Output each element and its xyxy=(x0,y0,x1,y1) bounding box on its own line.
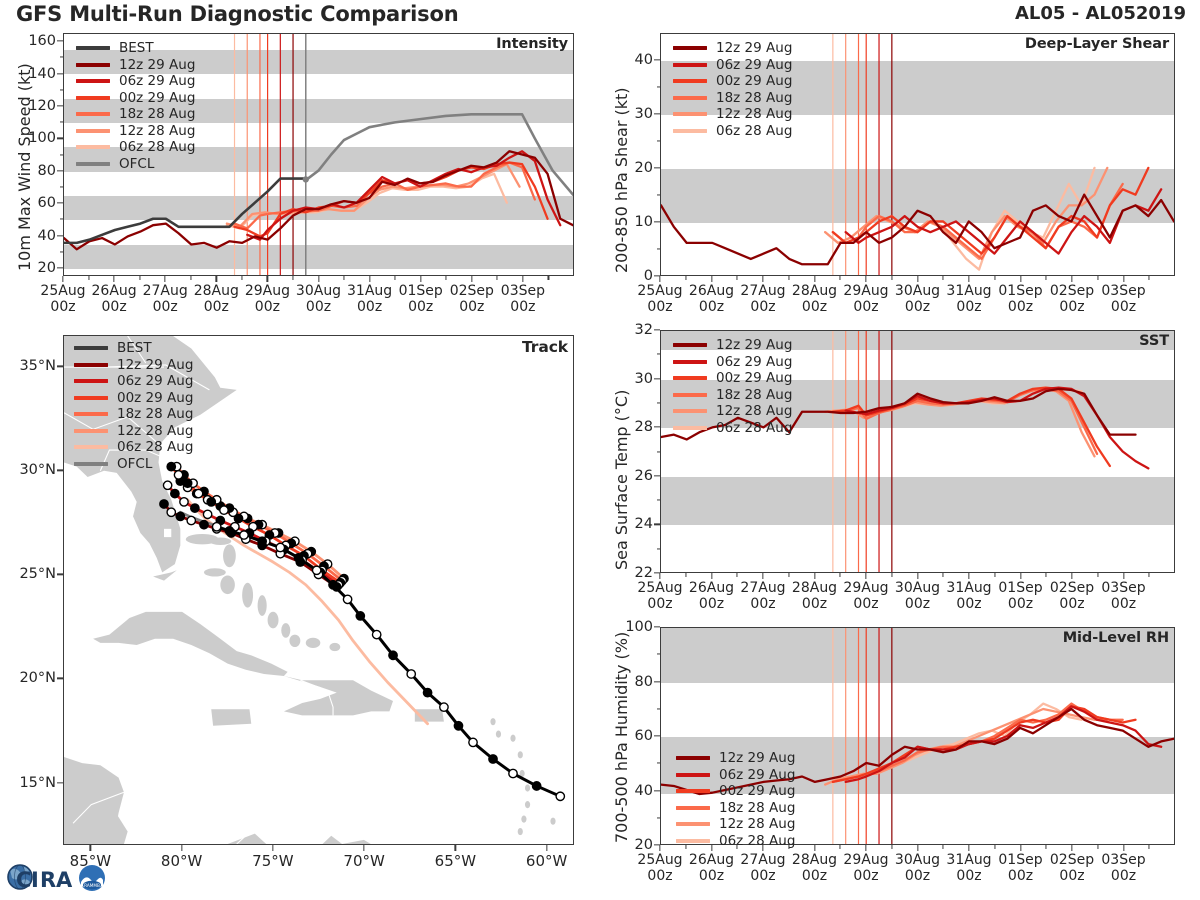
legend-item: 06z 29 Aug xyxy=(74,373,193,390)
y-tick-mark xyxy=(654,378,660,379)
sst-panel-title: SST xyxy=(1139,333,1169,349)
legend-item: 18z 28 Aug xyxy=(673,387,792,404)
island xyxy=(289,635,300,647)
y-tick-label: 20 xyxy=(635,160,653,176)
track-marker-00z xyxy=(532,782,540,790)
x-minor-tick xyxy=(548,276,549,280)
y-tick-mark xyxy=(57,138,63,139)
legend-color-swatch xyxy=(74,462,108,466)
y-minor-tick xyxy=(60,186,64,187)
series-line xyxy=(64,179,306,243)
x-tick-mark xyxy=(522,276,523,282)
x-tick-label: 29Aug00z xyxy=(843,853,888,884)
legend-item: 06z 28 Aug xyxy=(676,833,795,850)
x-tick-mark xyxy=(762,573,763,579)
x-tick-hour: 00z xyxy=(1101,869,1145,885)
legend-color-swatch xyxy=(676,756,710,760)
track-marker-00z xyxy=(183,479,191,487)
legend-color-swatch xyxy=(676,822,710,826)
y-tick-label: 60 xyxy=(38,195,56,211)
x-tick-label: 30Aug00z xyxy=(895,581,940,612)
series-line xyxy=(825,389,1094,456)
y-tick-mark xyxy=(57,73,63,74)
svg-text:A: A xyxy=(56,868,73,892)
legend-label: 12z 29 Aug xyxy=(716,337,792,353)
series-line xyxy=(235,163,548,237)
x-tick-date: 27Aug xyxy=(740,852,785,868)
legend-label: OFCL xyxy=(119,156,154,172)
svg-text:RAMMB: RAMMB xyxy=(84,883,100,888)
x-tick-date: 31Aug xyxy=(946,283,991,299)
x-tick-mark xyxy=(968,276,969,282)
x-tick-mark xyxy=(917,573,918,579)
x-tick-hour: 00z xyxy=(740,597,785,613)
island xyxy=(223,544,236,567)
x-tick-mark xyxy=(90,845,91,851)
panel-shear: Deep-Layer Shear 200-850 hPa Shear (kt) … xyxy=(660,33,1175,276)
legend-item: 00z 29 Aug xyxy=(74,390,193,407)
x-minor-tick xyxy=(241,276,242,280)
x-tick-hour: 00z xyxy=(792,597,837,613)
legend-label: 12z 28 Aug xyxy=(117,423,193,439)
ofcl-start-marker xyxy=(303,176,309,182)
track-marker-12z xyxy=(187,516,195,524)
cira-logo: C I R A RAMMB xyxy=(4,856,116,898)
x-tick-mark xyxy=(659,276,660,282)
y-tick-label: 140 xyxy=(28,66,56,82)
track-marker-00z xyxy=(191,504,199,512)
x-tick-hour: 00z xyxy=(637,300,682,316)
longitude-tick-label: 65°W xyxy=(435,853,476,870)
x-minor-tick xyxy=(190,276,191,280)
track-marker-00z xyxy=(207,498,215,506)
x-tick-mark xyxy=(1123,845,1124,851)
x-tick-label: 26Aug00z xyxy=(689,853,734,884)
x-minor-tick xyxy=(292,276,293,280)
y-minor-tick xyxy=(657,140,661,141)
x-tick-date: 30Aug xyxy=(296,283,341,299)
legend-item: 18z 28 Aug xyxy=(74,406,193,423)
x-tick-hour: 00z xyxy=(843,869,888,885)
x-tick-mark xyxy=(865,573,866,579)
y-tick-mark xyxy=(654,329,660,330)
x-tick-hour: 00z xyxy=(895,597,940,613)
legend-color-swatch xyxy=(673,376,707,380)
y-minor-tick xyxy=(60,89,64,90)
legend-label: 06z 28 Aug xyxy=(716,420,792,436)
y-tick-label: 28 xyxy=(635,419,653,435)
legend-item: OFCL xyxy=(76,156,195,173)
x-tick-date: 28Aug xyxy=(792,580,837,596)
intensity-y-axis-label: 10m Max Wind Speed (kt) xyxy=(15,63,34,271)
legend-label: 06z 29 Aug xyxy=(716,354,792,370)
y-tick-mark xyxy=(654,475,660,476)
x-tick-hour: 00z xyxy=(1050,597,1094,613)
y-tick-mark xyxy=(654,524,660,525)
x-tick-label: 27Aug00z xyxy=(740,284,785,315)
legend-label: 18z 28 Aug xyxy=(716,387,792,403)
track-marker-00z xyxy=(225,527,233,535)
legend-label: 06z 29 Aug xyxy=(719,767,795,783)
track-line xyxy=(217,527,561,797)
track-legend: BEST12z 29 Aug06z 29 Aug00z 29 Aug18z 28… xyxy=(74,340,193,472)
legend-color-swatch xyxy=(673,409,707,413)
x-tick-mark xyxy=(865,845,866,851)
x-minor-tick xyxy=(446,276,447,280)
x-tick-hour: 00z xyxy=(347,300,392,316)
x-tick-date: 28Aug xyxy=(792,852,837,868)
x-tick-date: 02Sep xyxy=(1050,580,1094,596)
series-line xyxy=(825,168,1094,270)
latitude-tick-label: 25°N xyxy=(19,566,56,582)
y-tick-label: 120 xyxy=(28,98,56,114)
x-tick-date: 25Aug xyxy=(637,580,682,596)
x-minor-tick xyxy=(943,845,944,849)
y-tick-label: 30 xyxy=(635,371,653,387)
y-tick-mark xyxy=(57,366,63,367)
legend-label: 18z 28 Aug xyxy=(119,106,195,122)
series-line xyxy=(227,164,520,227)
y-minor-tick xyxy=(657,194,661,195)
x-minor-tick xyxy=(840,573,841,577)
y-tick-label: 40 xyxy=(635,783,653,799)
legend-label: BEST xyxy=(119,40,154,56)
y-tick-mark xyxy=(57,678,63,679)
x-tick-label: 02Sep00z xyxy=(1050,581,1094,612)
x-tick-date: 31Aug xyxy=(946,580,991,596)
legend-color-swatch xyxy=(676,789,710,793)
legend-item: 06z 29 Aug xyxy=(76,73,195,90)
x-minor-tick xyxy=(943,276,944,280)
x-tick-hour: 00z xyxy=(946,300,991,316)
x-tick-mark xyxy=(318,276,319,282)
sst-legend: 12z 29 Aug06z 29 Aug00z 29 Aug18z 28 Aug… xyxy=(673,337,792,436)
track-marker-12z xyxy=(343,595,351,603)
x-tick-hour: 00z xyxy=(843,300,888,316)
x-tick-label: 02Sep00z xyxy=(1050,284,1094,315)
x-tick-date: 01Sep xyxy=(998,283,1042,299)
y-minor-tick xyxy=(657,817,661,818)
x-tick-label: 27Aug00z xyxy=(740,853,785,884)
x-tick-mark xyxy=(1123,276,1124,282)
x-tick-label: 31Aug00z xyxy=(946,581,991,612)
x-tick-date: 30Aug xyxy=(895,580,940,596)
series-line xyxy=(846,706,1161,782)
x-tick-mark xyxy=(267,276,268,282)
shear-legend: 12z 29 Aug06z 29 Aug00z 29 Aug18z 28 Aug… xyxy=(673,40,792,139)
y-tick-label: 20 xyxy=(635,837,653,853)
y-tick-mark xyxy=(654,221,660,222)
panel-sst: SST Sea Surface Temp (°C) 222426283032 2… xyxy=(660,330,1175,573)
legend-color-swatch xyxy=(76,112,110,116)
legend-item: 12z 28 Aug xyxy=(673,403,792,420)
x-tick-mark xyxy=(865,276,866,282)
island xyxy=(281,623,290,638)
x-tick-date: 02Sep xyxy=(1050,852,1094,868)
y-tick-label: 100 xyxy=(625,619,653,635)
y-tick-label: 20 xyxy=(38,260,56,276)
track-marker-12z xyxy=(240,531,248,539)
y-tick-mark xyxy=(57,267,63,268)
x-tick-label: 28Aug00z xyxy=(194,284,239,315)
legend-color-swatch xyxy=(76,96,110,100)
legend-label: 12z 29 Aug xyxy=(719,750,795,766)
track-marker-12z xyxy=(312,566,320,574)
x-tick-mark xyxy=(113,276,114,282)
x-tick-hour: 00z xyxy=(689,597,734,613)
y-tick-label: 100 xyxy=(28,130,56,146)
island xyxy=(510,735,515,742)
x-tick-hour: 00z xyxy=(946,597,991,613)
track-marker-12z xyxy=(556,792,564,800)
x-tick-date: 01Sep xyxy=(998,580,1042,596)
x-tick-date: 26Aug xyxy=(92,283,137,299)
x-tick-date: 26Aug xyxy=(689,283,734,299)
legend-label: 00z 29 Aug xyxy=(716,73,792,89)
figure-root: GFS Multi-Run Diagnostic Comparison AL05… xyxy=(0,0,1200,900)
legend-label: 12z 28 Aug xyxy=(119,123,195,139)
track-marker-12z xyxy=(180,498,188,506)
track-marker-00z xyxy=(329,581,337,589)
island xyxy=(490,718,495,725)
x-tick-label: 29Aug00z xyxy=(843,284,888,315)
x-tick-mark xyxy=(968,573,969,579)
x-minor-tick xyxy=(1149,276,1150,280)
x-minor-tick xyxy=(840,276,841,280)
legend-color-swatch xyxy=(673,96,707,100)
legend-color-swatch xyxy=(74,379,108,383)
legend-label: 00z 29 Aug xyxy=(716,370,792,386)
legend-label: 12z 29 Aug xyxy=(119,57,195,73)
legend-color-swatch xyxy=(676,806,710,810)
x-tick-mark xyxy=(272,845,273,851)
x-tick-label: 29Aug00z xyxy=(245,284,290,315)
y-minor-tick xyxy=(60,57,64,58)
y-tick-mark xyxy=(57,574,63,575)
legend-item: 06z 29 Aug xyxy=(673,354,792,371)
shear-y-axis-label: 200-850 hPa Shear (kt) xyxy=(612,87,631,273)
legend-label: 06z 28 Aug xyxy=(119,139,195,155)
x-tick-hour: 00z xyxy=(1050,869,1094,885)
y-minor-tick xyxy=(60,219,64,220)
legend-color-swatch xyxy=(673,343,707,347)
track-marker-12z xyxy=(509,769,517,777)
legend-item: 18z 28 Aug xyxy=(76,106,195,123)
x-tick-mark xyxy=(363,845,364,851)
y-minor-tick xyxy=(657,500,661,501)
x-tick-mark xyxy=(455,845,456,851)
landmass xyxy=(228,834,555,844)
track-marker-00z xyxy=(294,554,302,562)
x-tick-mark xyxy=(659,573,660,579)
x-tick-mark xyxy=(814,276,815,282)
x-tick-hour: 00z xyxy=(1101,300,1145,316)
track-marker-00z xyxy=(176,512,184,520)
x-tick-hour: 00z xyxy=(998,869,1042,885)
legend-label: 12z 29 Aug xyxy=(117,357,193,373)
legend-color-swatch xyxy=(76,145,110,149)
x-tick-label: 03Sep00z xyxy=(1101,853,1145,884)
y-tick-mark xyxy=(654,167,660,168)
x-tick-mark xyxy=(1071,573,1072,579)
legend-color-swatch xyxy=(673,46,707,50)
series-line xyxy=(825,704,1081,785)
x-tick-label: 03Sep00z xyxy=(1101,284,1145,315)
x-minor-tick xyxy=(737,573,738,577)
x-minor-tick xyxy=(994,276,995,280)
legend-label: 12z 29 Aug xyxy=(716,40,792,56)
x-minor-tick xyxy=(943,573,944,577)
y-minor-tick xyxy=(60,122,64,123)
x-tick-hour: 00z xyxy=(792,300,837,316)
x-tick-label: 31Aug00z xyxy=(347,284,392,315)
longitude-tick-label: 75°W xyxy=(252,853,293,870)
legend-label: 06z 29 Aug xyxy=(119,73,195,89)
x-tick-date: 01Sep xyxy=(998,852,1042,868)
x-tick-hour: 00z xyxy=(740,869,785,885)
y-tick-mark xyxy=(57,470,63,471)
x-minor-tick xyxy=(788,573,789,577)
x-tick-mark xyxy=(1020,845,1021,851)
legend-color-swatch xyxy=(76,162,110,166)
x-tick-label: 25Aug00z xyxy=(637,284,682,315)
y-tick-mark xyxy=(57,105,63,106)
x-tick-mark xyxy=(762,276,763,282)
x-tick-label: 28Aug00z xyxy=(792,284,837,315)
x-tick-mark xyxy=(369,276,370,282)
x-tick-hour: 00z xyxy=(450,300,494,316)
rh-legend: 12z 29 Aug06z 29 Aug00z 29 Aug18z 28 Aug… xyxy=(676,750,795,849)
legend-color-swatch xyxy=(74,363,108,367)
y-minor-tick xyxy=(657,451,661,452)
track-marker-00z xyxy=(389,651,397,659)
track-marker-12z xyxy=(220,506,228,514)
legend-color-swatch xyxy=(673,129,707,133)
x-tick-date: 26Aug xyxy=(689,580,734,596)
x-tick-mark xyxy=(711,573,712,579)
x-tick-label: 25Aug00z xyxy=(637,853,682,884)
landmass xyxy=(93,612,288,676)
y-tick-mark xyxy=(654,735,660,736)
legend-label: 18z 28 Aug xyxy=(719,800,795,816)
x-minor-tick xyxy=(1149,845,1150,849)
x-tick-label: 26Aug00z xyxy=(689,284,734,315)
x-tick-label: 27Aug00z xyxy=(143,284,188,315)
island xyxy=(204,568,226,576)
y-tick-mark xyxy=(654,59,660,60)
legend-label: 06z 28 Aug xyxy=(716,123,792,139)
x-tick-date: 31Aug xyxy=(946,852,991,868)
track-marker-12z xyxy=(167,508,175,516)
x-tick-mark xyxy=(1020,573,1021,579)
y-tick-mark xyxy=(654,681,660,682)
y-minor-tick xyxy=(657,654,661,655)
island xyxy=(525,801,530,808)
legend-item: 18z 28 Aug xyxy=(673,90,792,107)
x-tick-label: 30Aug00z xyxy=(296,284,341,315)
x-tick-label: 25Aug00z xyxy=(40,284,85,315)
x-tick-label: 01Sep00z xyxy=(998,853,1042,884)
x-tick-hour: 00z xyxy=(296,300,341,316)
legend-label: 12z 28 Aug xyxy=(719,816,795,832)
x-tick-date: 29Aug xyxy=(843,283,888,299)
x-tick-date: 25Aug xyxy=(637,283,682,299)
track-marker-12z xyxy=(372,630,380,638)
svg-text:R: R xyxy=(40,868,56,892)
x-minor-tick xyxy=(1046,845,1047,849)
track-marker-12z xyxy=(194,489,202,497)
track-line xyxy=(188,500,428,724)
legend-item: 06z 28 Aug xyxy=(76,139,195,156)
x-tick-date: 03Sep xyxy=(501,283,545,299)
track-panel-title: Track xyxy=(522,338,568,356)
legend-color-swatch xyxy=(673,63,707,67)
x-tick-label: 02Sep00z xyxy=(1050,853,1094,884)
x-tick-hour: 00z xyxy=(740,300,785,316)
island xyxy=(242,583,253,608)
x-tick-label: 30Aug00z xyxy=(895,853,940,884)
legend-item: 06z 29 Aug xyxy=(676,767,795,784)
legend-item: 12z 29 Aug xyxy=(673,337,792,354)
y-minor-tick xyxy=(657,354,661,355)
y-tick-label: 30 xyxy=(635,106,653,122)
x-tick-date: 28Aug xyxy=(792,283,837,299)
x-tick-hour: 00z xyxy=(399,300,443,316)
island xyxy=(496,731,501,738)
y-tick-label: 60 xyxy=(635,728,653,744)
track-marker-00z xyxy=(356,612,364,620)
x-tick-label: 26Aug00z xyxy=(92,284,137,315)
x-minor-tick xyxy=(891,573,892,577)
y-tick-label: 80 xyxy=(635,674,653,690)
y-tick-label: 0 xyxy=(644,268,653,284)
x-tick-date: 26Aug xyxy=(689,852,734,868)
x-tick-hour: 00z xyxy=(245,300,290,316)
track-marker-00z xyxy=(234,514,242,522)
x-tick-mark xyxy=(62,276,63,282)
track-marker-00z xyxy=(171,489,179,497)
x-tick-label: 01Sep00z xyxy=(998,284,1042,315)
y-minor-tick xyxy=(60,251,64,252)
longitude-tick-label: 60°W xyxy=(526,853,567,870)
shear-panel-title: Deep-Layer Shear xyxy=(1025,36,1169,52)
x-minor-tick xyxy=(788,276,789,280)
series-line xyxy=(833,389,1097,454)
island xyxy=(329,643,340,651)
x-tick-mark xyxy=(1071,276,1072,282)
legend-item: OFCL xyxy=(74,456,193,473)
legend-item: 12z 29 Aug xyxy=(676,750,795,767)
x-tick-date: 25Aug xyxy=(637,852,682,868)
intensity-legend: BEST12z 29 Aug06z 29 Aug00z 29 Aug18z 28… xyxy=(76,40,195,172)
landmass xyxy=(153,570,177,580)
y-tick-mark xyxy=(57,782,63,783)
x-tick-mark xyxy=(814,573,815,579)
x-tick-hour: 00z xyxy=(1050,300,1094,316)
y-minor-tick xyxy=(657,248,661,249)
y-tick-label: 32 xyxy=(635,322,653,338)
legend-item: 12z 28 Aug xyxy=(676,816,795,833)
y-tick-mark xyxy=(57,40,63,41)
legend-label: OFCL xyxy=(117,456,152,472)
x-minor-tick xyxy=(344,276,345,280)
latitude-tick-label: 15°N xyxy=(19,775,56,791)
x-tick-mark xyxy=(420,276,421,282)
x-minor-tick xyxy=(395,276,396,280)
legend-color-swatch xyxy=(673,360,707,364)
legend-item: 12z 29 Aug xyxy=(673,40,792,57)
latitude-tick-label: 30°N xyxy=(19,462,56,478)
